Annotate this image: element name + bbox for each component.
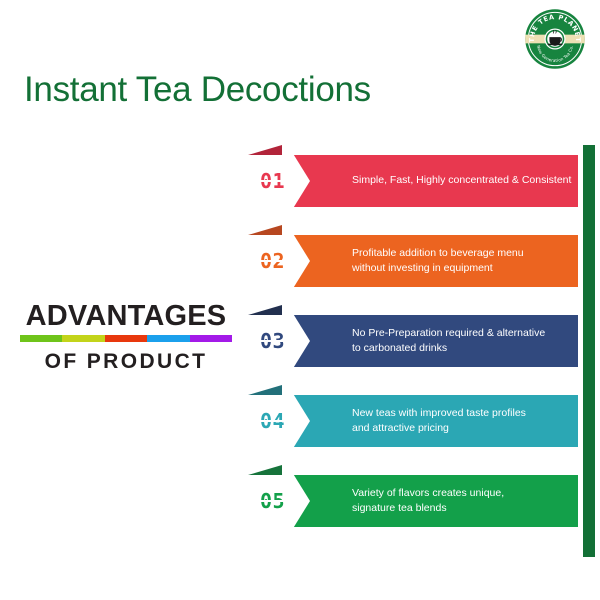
ribbon-fold xyxy=(248,305,282,315)
ribbon-fold xyxy=(248,225,282,235)
advantage-text-line: Profitable addition to beverage menu xyxy=(352,246,570,261)
rainbow-segment-1 xyxy=(20,335,62,342)
advantage-number: 05 xyxy=(248,491,285,511)
advantage-text: Simple, Fast, Highly concentrated & Cons… xyxy=(352,155,570,207)
the-tea-planet-logo: THE TEA PLANET New Generation Tea Co. xyxy=(524,8,586,70)
ribbon-fold xyxy=(248,145,282,155)
page-title: Instant Tea Decoctions xyxy=(24,70,371,110)
advantage-row[interactable]: Variety of flavors creates unique,signat… xyxy=(248,465,578,527)
advantage-row[interactable]: Profitable addition to beverage menuwith… xyxy=(248,225,578,287)
advantage-row[interactable]: Simple, Fast, Highly concentrated & Cons… xyxy=(248,145,578,207)
advantage-text: New teas with improved taste profilesand… xyxy=(352,395,570,447)
slide-canvas: THE TEA PLANET New Generation Tea Co. In… xyxy=(0,0,600,600)
advantage-text: Variety of flavors creates unique,signat… xyxy=(352,475,570,527)
rainbow-segment-2 xyxy=(62,335,104,342)
rainbow-segment-4 xyxy=(147,335,189,342)
advantage-text-line: without investing in equipment xyxy=(352,261,570,276)
advantage-number: 02 xyxy=(248,251,285,271)
advantage-text: No Pre-Preparation required & alternativ… xyxy=(352,315,570,367)
advantage-text-line: Simple, Fast, Highly concentrated & Cons… xyxy=(352,173,570,188)
rainbow-segment-5 xyxy=(190,335,232,342)
rainbow-segment-3 xyxy=(105,335,147,342)
advantage-text-line: Variety of flavors creates unique, xyxy=(352,486,570,501)
advantage-number: 03 xyxy=(248,331,285,351)
advantage-text-line: signature tea blends xyxy=(352,501,570,516)
rainbow-divider xyxy=(20,335,232,342)
advantage-text-line: to carbonated drinks xyxy=(352,341,570,356)
advantage-number: 04 xyxy=(248,411,285,431)
advantage-text-line: and attractive pricing xyxy=(352,421,570,436)
right-green-spine xyxy=(583,145,595,557)
advantage-text-line: No Pre-Preparation required & alternativ… xyxy=(352,326,570,341)
advantage-number: 01 xyxy=(248,171,285,191)
advantages-heading-block: ADVANTAGES OF PRODUCT xyxy=(20,302,232,372)
advantages-subtitle: OF PRODUCT xyxy=(20,351,232,372)
advantages-title: ADVANTAGES xyxy=(20,302,232,331)
advantage-text: Profitable addition to beverage menuwith… xyxy=(352,235,570,287)
advantage-text-line: New teas with improved taste profiles xyxy=(352,406,570,421)
advantage-row[interactable]: No Pre-Preparation required & alternativ… xyxy=(248,305,578,367)
ribbon-fold xyxy=(248,385,282,395)
ribbon-fold xyxy=(248,465,282,475)
advantage-row[interactable]: New teas with improved taste profilesand… xyxy=(248,385,578,447)
